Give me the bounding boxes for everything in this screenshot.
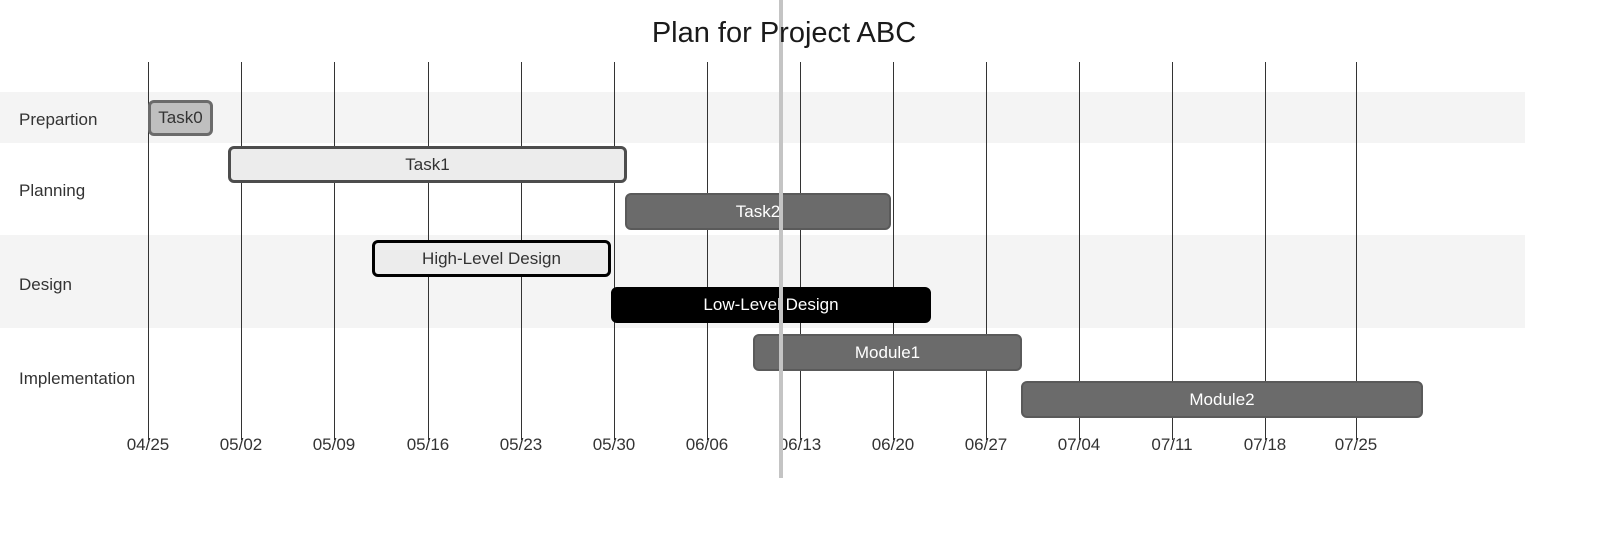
gantt-chart: Task0Task1Task2High-Level DesignLow-Leve…	[0, 0, 1600, 536]
task-bar-label: Task2	[736, 202, 780, 222]
chart-title: Plan for Project ABC	[0, 17, 1568, 50]
task-bar-label: Task1	[405, 155, 449, 175]
gridline	[1079, 62, 1080, 433]
axis-tick-label: 06/06	[662, 435, 752, 455]
axis-tick-label: 04/25	[103, 435, 193, 455]
axis-tick-label: 07/04	[1034, 435, 1124, 455]
task-bar[interactable]: Task0	[148, 100, 213, 136]
gridline	[893, 62, 894, 433]
task-bar[interactable]: Module2	[1021, 381, 1423, 418]
axis-tick-label: 07/11	[1127, 435, 1217, 455]
section-label-design: Design	[19, 275, 72, 295]
row-band	[0, 92, 1525, 143]
gridline	[1356, 62, 1357, 433]
axis-tick-label: 05/02	[196, 435, 286, 455]
axis-tick-label: 06/13	[755, 435, 845, 455]
task-bar[interactable]: Low-Level Design	[611, 287, 931, 323]
gridline	[241, 62, 242, 433]
section-label-implementation: Implementation	[19, 369, 135, 389]
gridline	[707, 62, 708, 433]
section-label-prepartion: Prepartion	[19, 110, 97, 130]
task-bar[interactable]: Module1	[753, 334, 1022, 371]
task-bar-label: Module1	[855, 343, 920, 363]
gridline	[1265, 62, 1266, 433]
gridline	[1172, 62, 1173, 433]
task-bar-label: Task0	[158, 108, 202, 128]
task-bar[interactable]: High-Level Design	[372, 240, 611, 277]
axis-tick-label: 07/25	[1311, 435, 1401, 455]
task-bar[interactable]: Task1	[228, 146, 627, 183]
task-bar-label: High-Level Design	[422, 249, 561, 269]
task-bar-label: Low-Level Design	[703, 295, 838, 315]
axis-tick-label: 06/27	[941, 435, 1031, 455]
task-bar-label: Module2	[1189, 390, 1254, 410]
gridline	[334, 62, 335, 433]
axis-tick-label: 05/09	[289, 435, 379, 455]
axis-tick-label: 07/18	[1220, 435, 1310, 455]
gridline	[800, 62, 801, 433]
axis-tick-label: 05/16	[383, 435, 473, 455]
axis-tick-label: 05/23	[476, 435, 566, 455]
today-marker-line	[779, 0, 783, 478]
axis-tick-label: 05/30	[569, 435, 659, 455]
task-bar[interactable]: Task2	[625, 193, 891, 230]
axis-tick-label: 06/20	[848, 435, 938, 455]
section-label-planning: Planning	[19, 181, 85, 201]
gridline	[614, 62, 615, 433]
gridline	[986, 62, 987, 433]
